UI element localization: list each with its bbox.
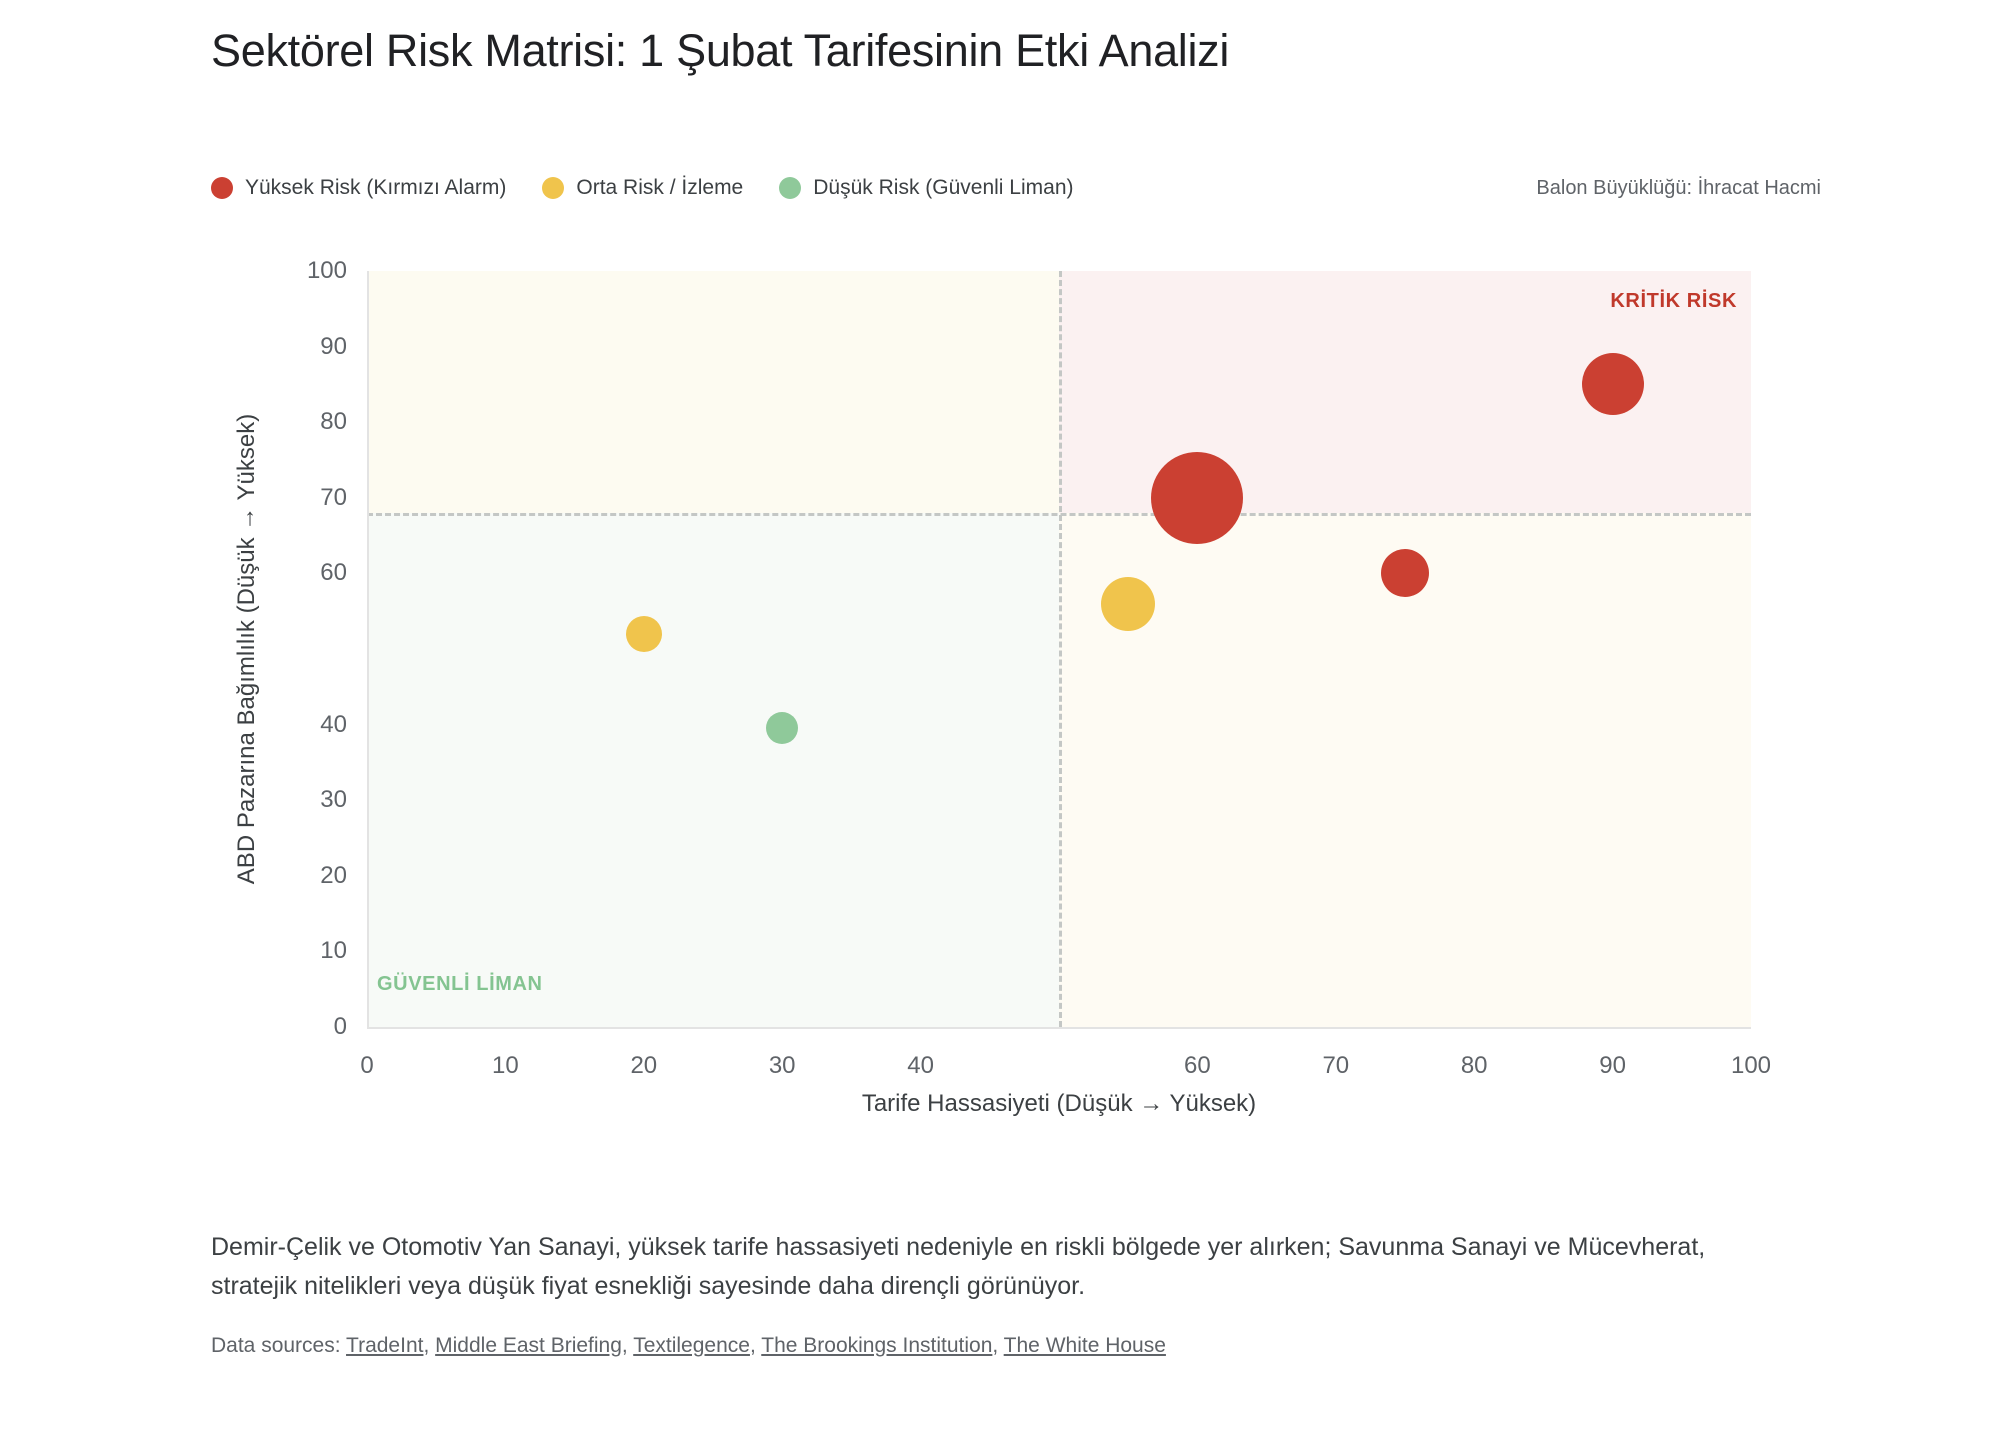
x-axis-tick-label: 100 <box>1731 1052 1771 1080</box>
x-axis-tick-label: 60 <box>1184 1052 1211 1080</box>
y-axis-tick-label: 40 <box>320 711 347 739</box>
x-axis-tick-label: 10 <box>492 1052 519 1080</box>
data-source-link[interactable]: TradeInt <box>346 1334 423 1357</box>
y-axis-tick-label: 60 <box>320 559 347 587</box>
chart-footer: Demir-Çelik ve Otomotiv Yan Sanayi, yüks… <box>211 1228 1781 1358</box>
x-axis-ticks: 01020304060708090100 <box>367 1052 1751 1086</box>
x-axis-tick-label: 80 <box>1461 1052 1488 1080</box>
y-axis-tick-label: 20 <box>320 862 347 890</box>
data-source-link[interactable]: The White House <box>1004 1334 1166 1357</box>
y-axis-tick-label: 0 <box>334 1013 347 1041</box>
y-axis-title: ABD Pazarına Bağımlılık (Düşük → Yüksek) <box>233 414 261 884</box>
plot-area: KRİTİK RİSK GÜVENLİ LİMAN <box>367 271 1751 1027</box>
data-source-link[interactable]: Middle East Briefing <box>435 1334 622 1357</box>
x-axis-tick-label: 0 <box>360 1052 373 1080</box>
bubble-point[interactable] <box>1582 353 1644 415</box>
y-axis-tick-label: 30 <box>320 786 347 814</box>
quadrant-divider-horizontal <box>367 513 1751 516</box>
data-source-link[interactable]: The Brookings Institution <box>761 1334 992 1357</box>
quadrant-divider-vertical <box>1059 271 1062 1027</box>
data-sources-label: Data sources: <box>211 1334 341 1357</box>
bubble-point[interactable] <box>1101 577 1155 631</box>
y-axis-tick-label: 90 <box>320 333 347 361</box>
summary-text: Demir-Çelik ve Otomotiv Yan Sanayi, yüks… <box>211 1228 1781 1306</box>
bubble-point[interactable] <box>1151 452 1243 544</box>
y-axis-tick-label: 70 <box>320 484 347 512</box>
quadrant-bottom-left <box>367 513 1059 1027</box>
data-source-link[interactable]: Textilegence <box>633 1334 750 1357</box>
x-axis-tick-label: 70 <box>1322 1052 1349 1080</box>
x-axis-tick-label: 30 <box>769 1052 796 1080</box>
bubble-point[interactable] <box>766 712 798 744</box>
y-axis-tick-label: 80 <box>320 408 347 436</box>
quadrant-label-critical-risk: KRİTİK RİSK <box>1610 290 1737 313</box>
bubble-point[interactable] <box>626 616 662 652</box>
y-axis-ticks: 01020304060708090100 <box>275 271 347 1027</box>
x-axis-title: Tarife Hassasiyeti (Düşük → Yüksek) <box>862 1090 1256 1118</box>
quadrant-top-left <box>367 271 1059 513</box>
y-axis-tick-label: 10 <box>320 937 347 965</box>
quadrant-label-safe-harbor: GÜVENLİ LİMAN <box>377 973 543 996</box>
x-axis-tick-label: 40 <box>907 1052 934 1080</box>
bubble-point[interactable] <box>1381 549 1429 597</box>
x-axis-line <box>367 1027 1751 1029</box>
x-axis-tick-label: 20 <box>630 1052 657 1080</box>
data-sources: Data sources: TradeInt, Middle East Brie… <box>211 1334 1781 1358</box>
y-axis-line <box>367 271 369 1027</box>
risk-matrix-chart: KRİTİK RİSK GÜVENLİ LİMAN 01020304060708… <box>0 0 2014 1436</box>
x-axis-tick-label: 90 <box>1599 1052 1626 1080</box>
y-axis-tick-label: 100 <box>307 257 347 285</box>
